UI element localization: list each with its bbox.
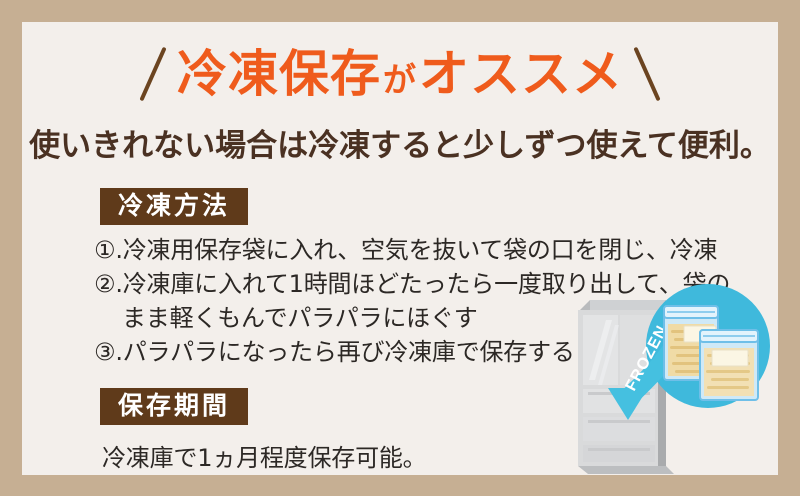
step-text: 冷凍用保存袋に入れ、空気を抜いて袋の口を閉じ、冷凍 bbox=[123, 236, 718, 264]
list-item: ①.冷凍用保存袋に入れ、空気を抜いて袋の口を閉じ、冷凍 bbox=[94, 233, 764, 267]
step-marker: ②. bbox=[94, 270, 123, 298]
title-row: 冷凍保存 が オススメ bbox=[22, 38, 778, 110]
freezer-illustration: FROZEN bbox=[560, 284, 778, 475]
step-marker: ①. bbox=[94, 236, 123, 264]
storage-period-text: 冷凍庫で1ヵ月程度保存可能。 bbox=[102, 438, 426, 473]
section-label-storage-period: 保存期間 bbox=[100, 388, 248, 425]
inner-panel: 冷凍保存 が オススメ 使いきれない場合は冷凍すると少しずつ使えて便利。 冷凍方… bbox=[22, 22, 778, 475]
slash-left-decoration bbox=[139, 47, 166, 102]
subtitle: 使いきれない場合は冷凍すると少しずつ使えて便利。 bbox=[22, 120, 778, 165]
freezer-bag-front bbox=[700, 330, 758, 400]
title-main-1: 冷凍保存 bbox=[177, 49, 381, 99]
title-particle: が bbox=[381, 63, 419, 96]
section-label-freezing-method: 冷凍方法 bbox=[100, 188, 248, 225]
slash-right-decoration bbox=[633, 47, 660, 102]
infographic-canvas: 冷凍保存 が オススメ 使いきれない場合は冷凍すると少しずつ使えて便利。 冷凍方… bbox=[0, 0, 800, 496]
step-marker: ③. bbox=[94, 338, 123, 366]
step-text: パラパラになったら再び冷凍庫で保存する bbox=[123, 338, 575, 366]
title-main-2: オススメ bbox=[419, 49, 623, 99]
page-title: 冷凍保存 が オススメ bbox=[177, 49, 623, 99]
